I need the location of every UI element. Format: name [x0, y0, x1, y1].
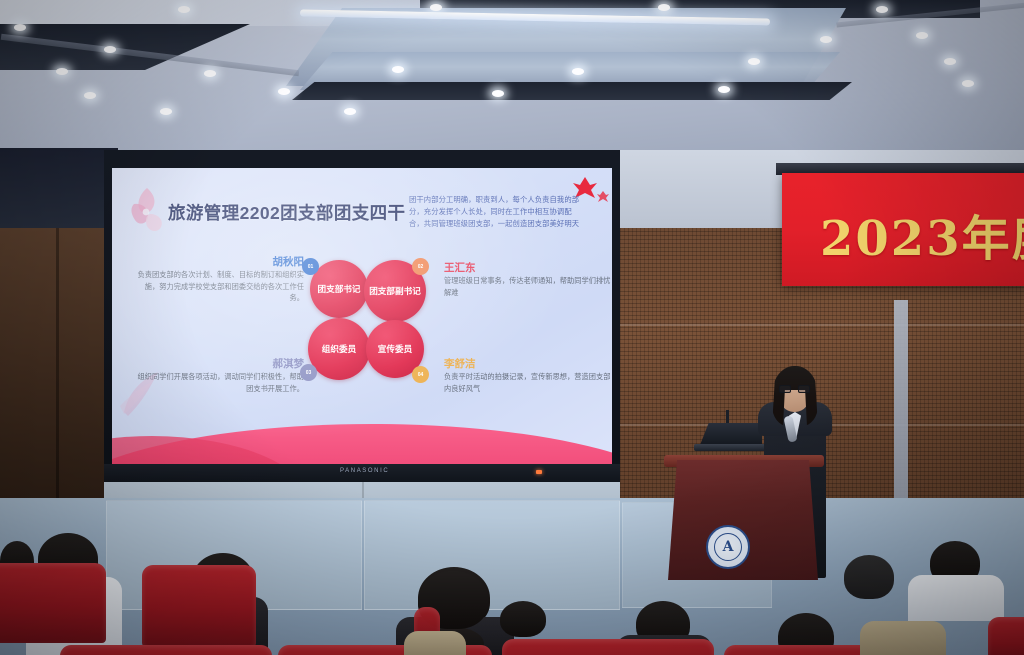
presentation-slide: 旅游管理2202团支部团支四干 团干内部分工明确，职责到人，每个人负责自我的部分…: [112, 168, 612, 464]
role-block-secretary: 胡秋阳 负责团支部的各次计划、制度、目标的制订和组织实施，努力完成学校党支部和团…: [134, 256, 304, 304]
role-description: 管理班级日常事务，传达老师通知，帮助同学们排忧解难: [444, 275, 612, 298]
downlight: [56, 68, 68, 75]
role-circle-cluster: 团支部书记 团支部副书记 组织委员 宣传委员 01 02 03 04: [308, 260, 424, 384]
downlight: [962, 80, 974, 87]
seat: [142, 565, 256, 647]
laptop-screen: [700, 423, 762, 445]
audience: [0, 505, 1024, 655]
downlight: [876, 6, 888, 13]
downlight: [278, 88, 290, 95]
seat: [0, 563, 106, 643]
role-block-organization: 郝淇梦 组织同学们开展各项活动，调动同学们积极性，帮助团支书开展工作。: [134, 358, 304, 394]
role-name: 胡秋阳: [134, 256, 304, 269]
left-wood-wall: [0, 228, 104, 528]
projector-brand-label: PANASONIC: [340, 468, 389, 474]
dove-ornament-icon: [596, 190, 610, 203]
role-block-publicity: 李舒洁 负责平时活动的拍摄记录，宣传新思想，营造团支部内良好风气: [444, 358, 612, 394]
seat: [502, 639, 714, 655]
downlight: [392, 66, 404, 73]
role-description: 负责平时活动的拍摄记录，宣传新思想，营造团支部内良好风气: [444, 371, 612, 394]
laptop-base: [694, 444, 768, 451]
audience-torso: [908, 575, 1004, 621]
ceiling-recess-edge: [292, 82, 852, 100]
wood-panel-seam: [56, 228, 59, 528]
glasses-icon: [779, 385, 810, 393]
role-name: 王汇东: [444, 262, 612, 275]
auditorium-photo: 2023年度 旅游管理2202团支部团支四干 团干内部分工明确，职责到人，每个人…: [0, 0, 1024, 655]
downlight: [718, 86, 730, 93]
downlight: [916, 32, 928, 39]
downlight: [344, 108, 356, 115]
event-banner: 2023年度: [782, 173, 1024, 286]
wall-seam: [612, 324, 1024, 326]
banner-title: 2023年度: [820, 199, 1024, 269]
role-block-deputy: 王汇东 管理班级日常事务，传达老师通知，帮助同学们排忧解难: [444, 262, 612, 298]
downlight: [492, 90, 504, 97]
audience-torso: [404, 631, 466, 655]
role-badge-02: 02: [412, 258, 429, 275]
downlight: [14, 24, 26, 31]
wall-pilaster: [894, 300, 908, 528]
role-badge-04: 04: [412, 366, 429, 383]
audience-torso: [860, 621, 946, 655]
downlight: [178, 6, 190, 13]
audience-head: [844, 555, 894, 599]
downlight: [944, 58, 956, 65]
slide-title: 旅游管理2202团支部团支四干: [168, 200, 405, 225]
role-name: 李舒洁: [444, 358, 612, 371]
role-badge-03: 03: [300, 364, 317, 381]
role-description: 组织同学们开展各项活动，调动同学们积极性，帮助团支书开展工作。: [134, 371, 304, 394]
audience-head: [500, 601, 546, 637]
downlight: [430, 4, 442, 11]
ceiling: [0, 0, 1024, 160]
downlight: [658, 4, 670, 11]
flower-ornament-icon: [124, 184, 170, 238]
wall-left-dark-panel: [0, 148, 118, 228]
downlight: [104, 46, 116, 53]
role-circle-organization: 组织委员: [308, 318, 370, 380]
seat: [60, 645, 272, 655]
downlight: [820, 36, 832, 43]
downlight: [748, 58, 760, 65]
downlight: [84, 92, 96, 99]
role-badge-01: 01: [302, 258, 319, 275]
role-description: 负责团支部的各次计划、制度、目标的制订和组织实施，努力完成学校党支部和团委交给的…: [134, 269, 304, 304]
role-name: 郝淇梦: [134, 358, 304, 371]
status-led: [536, 470, 542, 474]
downlight: [160, 108, 172, 115]
downlight: [204, 70, 216, 77]
slide-intro-paragraph: 团干内部分工明确，职责到人，每个人负责自我的部分，充分发挥个人长处，同时在工作中…: [409, 194, 585, 229]
downlight: [572, 68, 584, 75]
seat: [988, 617, 1024, 655]
